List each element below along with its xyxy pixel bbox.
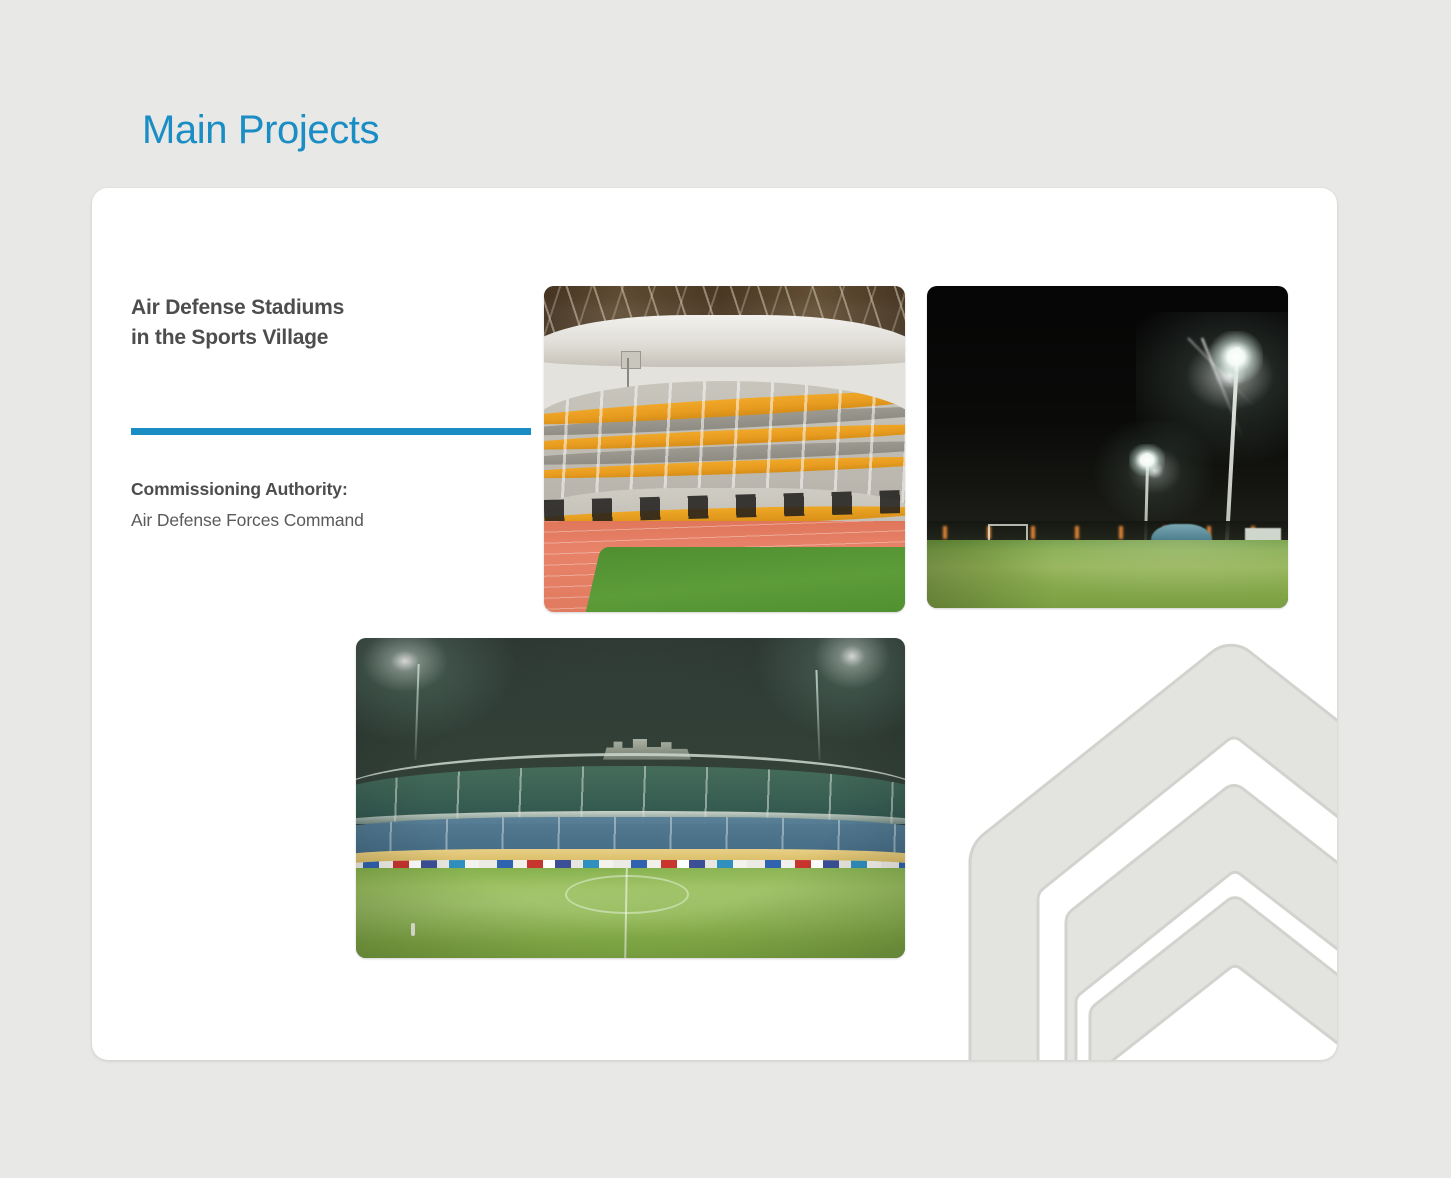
floodlight-lamp-secondary (1129, 444, 1165, 476)
project-heading-line-1: Air Defense Stadiums (131, 296, 344, 319)
chevron-logo-svg (940, 612, 1337, 1060)
commissioning-authority-block: Commissioning Authority: Air Defense For… (131, 479, 531, 531)
photo-content (544, 286, 905, 612)
photo-vignette (356, 638, 905, 958)
commissioning-authority-colon: : (342, 479, 348, 499)
project-card: Air Defense Stadiums in the Sports Villa… (92, 188, 1337, 1060)
project-heading: Air Defense Stadiums in the Sports Villa… (131, 293, 531, 353)
grass-lighting-gradient (927, 540, 1288, 608)
commissioning-authority-value: Air Defense Forces Command (131, 510, 531, 531)
commissioning-authority-label: Commissioning Authority: (131, 479, 531, 500)
grass-pitch (581, 547, 905, 612)
page-title: Main Projects (142, 108, 379, 153)
accent-divider (131, 428, 531, 435)
project-photo-night-stadium (356, 638, 905, 958)
chevron-logo-watermark-icon (940, 612, 1337, 1060)
commissioning-authority-label-text: Commissioning Authority (131, 479, 342, 499)
floodlight-glow-secondary (1086, 421, 1223, 530)
project-photo-daytime-stadium (544, 286, 905, 612)
floodlight-mast-head (621, 351, 641, 369)
perimeter-amber-lights (927, 526, 1288, 539)
roof-fascia (544, 315, 905, 367)
project-info-column: Air Defense Stadiums in the Sports Villa… (131, 293, 531, 531)
floodlight-lamp-primary (1209, 331, 1263, 383)
photo-content (927, 286, 1288, 608)
project-heading-line-2: in the Sports Village (131, 323, 531, 353)
project-photo-night-field (927, 286, 1288, 608)
photo-content (356, 638, 905, 958)
